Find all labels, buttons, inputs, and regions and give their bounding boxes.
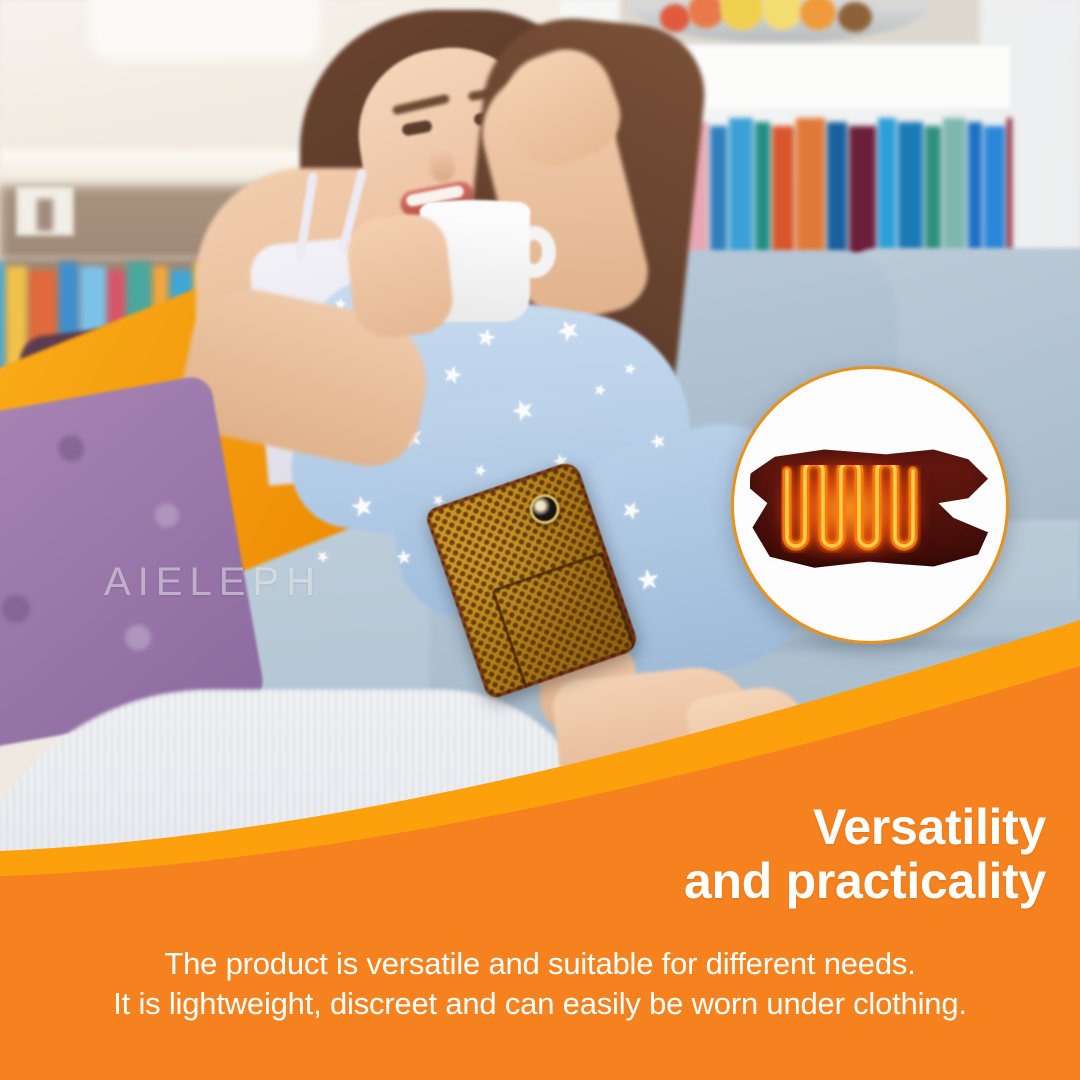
headline-line-1: Versatility — [813, 799, 1046, 855]
subcopy-line-1: The product is versatile and suitable fo… — [0, 944, 1080, 984]
marketing-banner: ★★★★★★★★★★★★★★★★★★★★★★★★ AIELEPH — [0, 0, 1080, 1080]
subcopy: The product is versatile and suitable fo… — [0, 944, 1080, 1023]
subcopy-line-2: It is lightweight, discreet and can easi… — [0, 984, 1080, 1024]
orange-swoosh-banner — [0, 0, 1080, 1080]
headline: Versatility and practicality — [326, 800, 1046, 908]
headline-line-2: and practicality — [326, 854, 1046, 908]
